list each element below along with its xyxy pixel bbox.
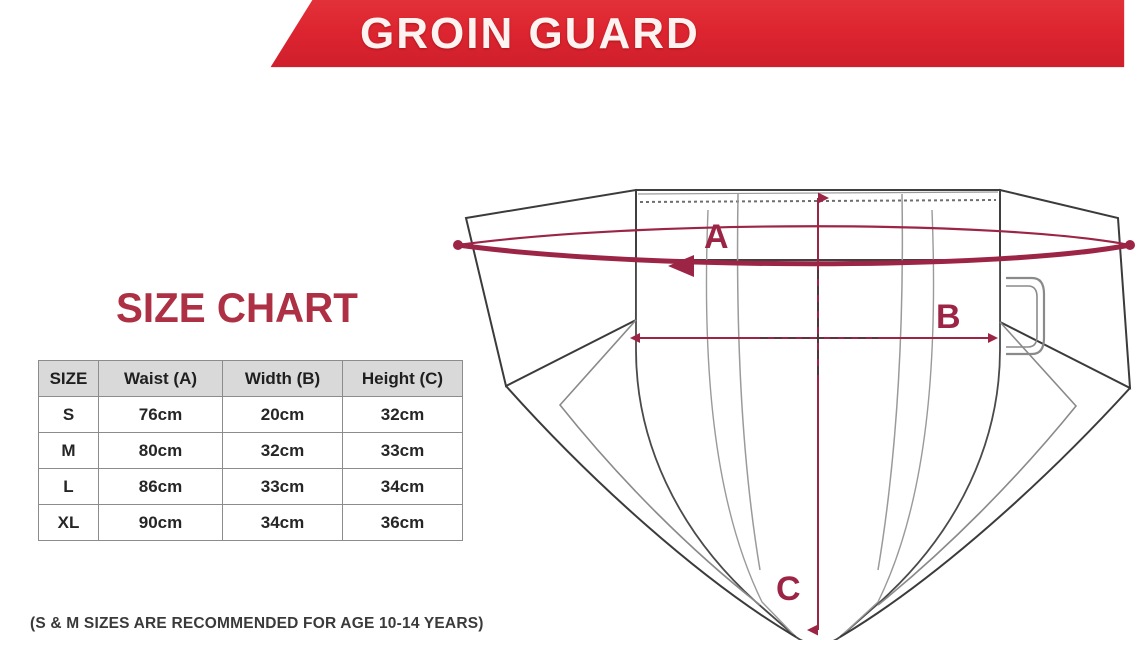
column-header-waist: Waist (A) [99, 361, 223, 397]
cell-waist: 86cm [99, 469, 223, 505]
measure-label-b: B [936, 298, 961, 336]
cell-width: 20cm [223, 397, 343, 433]
cell-width: 32cm [223, 433, 343, 469]
cell-size: M [39, 433, 99, 469]
column-header-width: Width (B) [223, 361, 343, 397]
cell-waist: 80cm [99, 433, 223, 469]
page-title: GROIN GUARD [360, 6, 880, 62]
left-wing-panel [466, 190, 636, 386]
cell-size: L [39, 469, 99, 505]
header-banner: GROIN GUARD [0, 0, 1140, 70]
waist-measure-right-cap [1125, 240, 1135, 250]
cell-waist: 90cm [99, 505, 223, 541]
waist-measure-left-cap [453, 240, 463, 250]
measure-label-a: A [704, 218, 729, 256]
size-table: SIZE Waist (A) Width (B) Height (C) S 76… [38, 360, 463, 541]
table-row: M 80cm 32cm 33cm [39, 433, 463, 469]
cell-size: XL [39, 505, 99, 541]
table-row: S 76cm 20cm 32cm [39, 397, 463, 433]
table-row: XL 90cm 34cm 36cm [39, 505, 463, 541]
column-header-size: SIZE [39, 361, 99, 397]
size-chart-page: GROIN GUARD SIZE CHART SIZE Waist (A) Wi… [0, 0, 1140, 666]
table-header-row: SIZE Waist (A) Width (B) Height (C) [39, 361, 463, 397]
cell-width: 33cm [223, 469, 343, 505]
groin-guard-diagram: A B C [440, 150, 1140, 640]
right-wing-panel [1000, 190, 1130, 388]
footnote-text: (S & M SIZES ARE RECOMMENDED FOR AGE 10-… [30, 615, 484, 633]
size-table-container: SIZE Waist (A) Width (B) Height (C) S 76… [38, 360, 462, 541]
table-row: L 86cm 33cm 34cm [39, 469, 463, 505]
cell-waist: 76cm [99, 397, 223, 433]
size-chart-heading: SIZE CHART [116, 284, 358, 332]
measure-label-c: C [776, 570, 801, 608]
cell-width: 34cm [223, 505, 343, 541]
cell-size: S [39, 397, 99, 433]
groin-guard-illustration: A B C [440, 150, 1140, 640]
